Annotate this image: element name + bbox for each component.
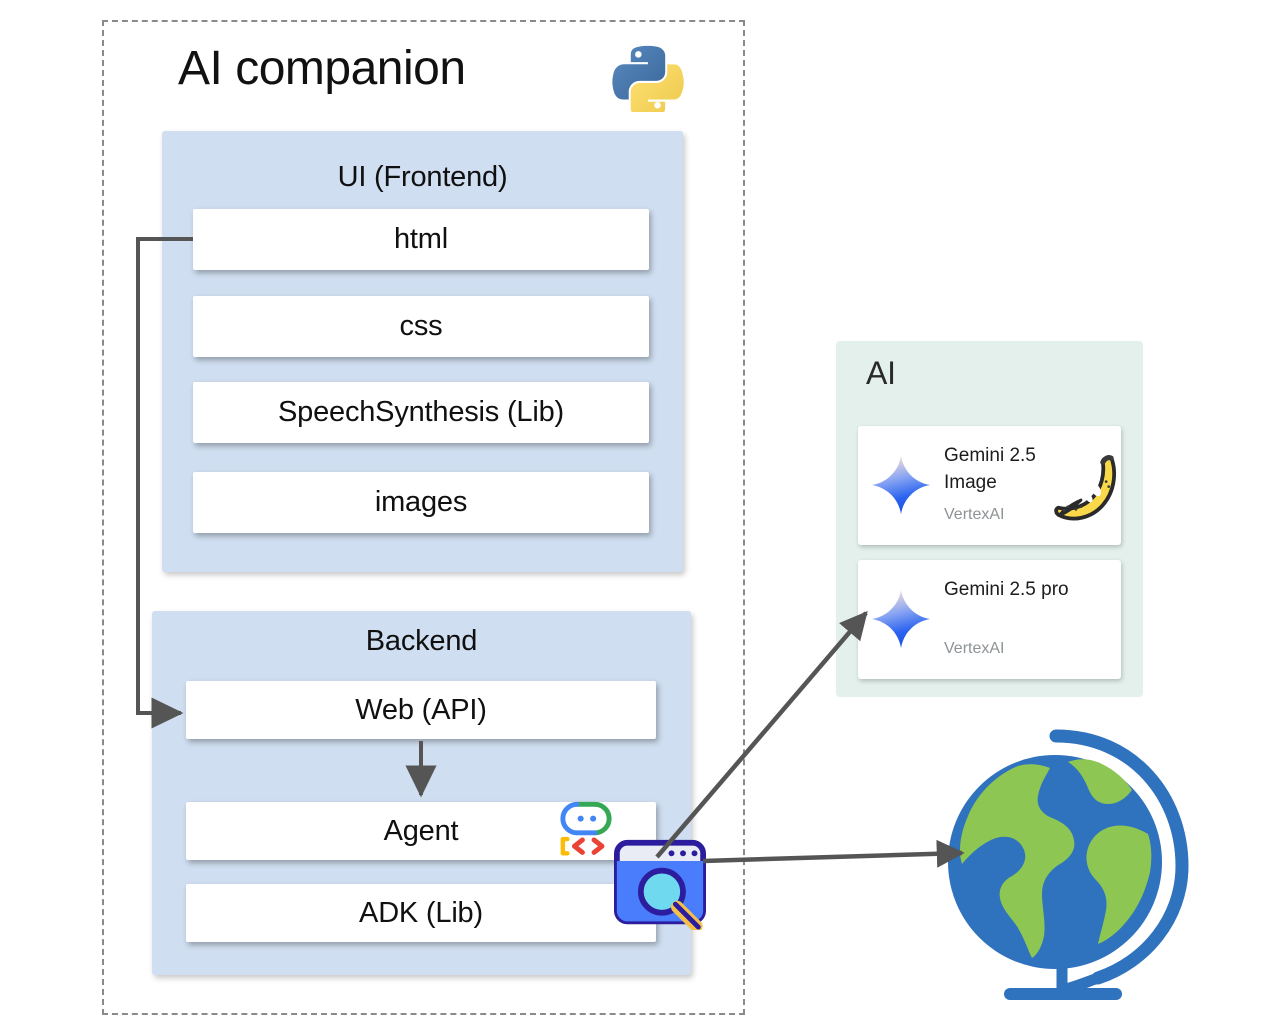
item-card-html[interactable]: html [193,209,649,270]
adk-robot-icon [557,799,615,856]
python-logo-icon [612,40,684,112]
item-label: images [375,486,467,519]
gemini-sparkle-icon [870,454,932,516]
ai-panel-title: AI [866,355,896,392]
item-label: Agent [384,815,459,848]
model-provider: VertexAI [944,506,1004,524]
item-label: html [394,223,448,256]
item-label: Web (API) [355,694,486,727]
item-label: css [400,310,443,343]
browser-search-icon [612,838,708,930]
model-provider: VertexAI [944,640,1004,658]
item-card-web-api[interactable]: Web (API) [186,681,656,739]
page-title: AI companion [178,38,466,100]
banana-icon [1044,448,1128,532]
item-card-css[interactable]: css [193,296,649,357]
item-label: ADK (Lib) [359,897,483,930]
globe-icon [938,722,1190,1012]
item-card-adk-lib[interactable]: ADK (Lib) [186,884,656,942]
group-title-ui: UI (Frontend) [162,161,683,194]
item-card-images[interactable]: images [193,472,649,533]
item-card-speechsynthesis[interactable]: SpeechSynthesis (Lib) [193,382,649,443]
model-card-gemini-pro[interactable]: Gemini 2.5 pro VertexAI [858,560,1121,679]
model-name: Gemini 2.5 pro [944,576,1074,603]
item-label: SpeechSynthesis (Lib) [278,396,564,429]
group-title-backend: Backend [152,625,691,658]
gemini-sparkle-icon [870,588,932,650]
